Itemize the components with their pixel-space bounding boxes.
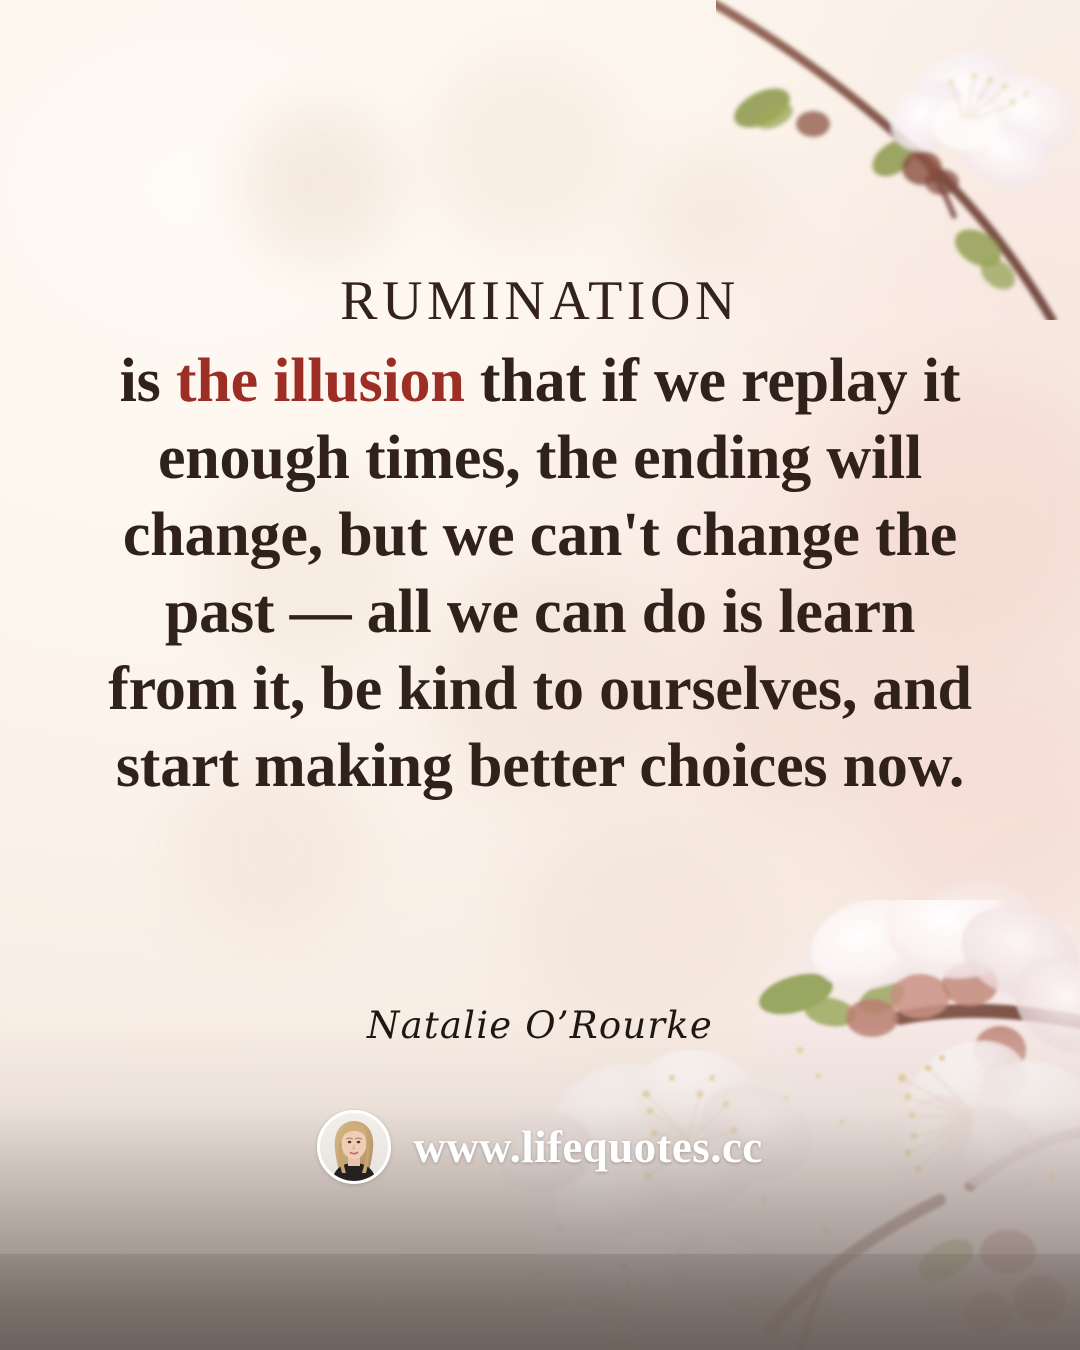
quote-poster: RUMINATION is the illusion that if we re… (0, 0, 1080, 1350)
quote-accent-phrase: the illusion (176, 347, 465, 415)
quote-body: is the illusion that if we replay it eno… (108, 343, 972, 804)
author-signature: Natalie O’Rourke (0, 1004, 1080, 1047)
quote-prefix: is (120, 347, 176, 415)
website-url[interactable]: www.lifequotes.cc (413, 1121, 762, 1173)
quote-title: RUMINATION (108, 272, 972, 331)
quote-block: RUMINATION is the illusion that if we re… (0, 272, 1080, 805)
site-footer: www.lifequotes.cc (0, 1104, 1080, 1190)
bottom-gradient-base (0, 1254, 1080, 1350)
author-portrait-icon (320, 1113, 388, 1181)
avatar (317, 1110, 391, 1184)
